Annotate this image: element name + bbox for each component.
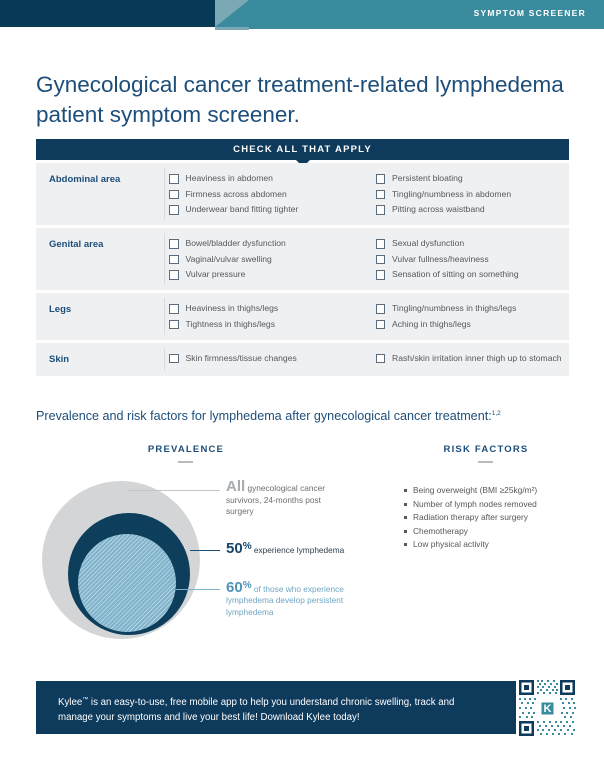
- checkbox-label: Heaviness in abdomen: [186, 173, 273, 184]
- header-navy-block: [0, 0, 215, 27]
- label-60-unit: %: [243, 580, 252, 591]
- checkbox-item[interactable]: Heaviness in abdomen: [169, 173, 367, 184]
- label-60-percent: 60% of those who experience lymphedema d…: [226, 580, 346, 618]
- checkbox-column-right: Persistent bloating Tingling/numbness in…: [367, 173, 570, 215]
- section-subtitle: Prevalence and risk factors for lymphede…: [36, 409, 581, 423]
- risk-factors-heading: RISK FACTORS: [396, 444, 576, 455]
- checkbox-label: Heaviness in thighs/legs: [186, 303, 279, 314]
- checkbox-icon[interactable]: [169, 239, 179, 249]
- row-divider: [164, 233, 165, 285]
- checkbox-label: Rash/skin irritation inner thigh up to s…: [392, 353, 562, 364]
- label-all-value: All: [226, 478, 245, 495]
- checkbox-item[interactable]: Sensation of sitting on something: [376, 269, 570, 280]
- row-label-legs: Legs: [36, 293, 164, 340]
- risk-factor-label: Radiation therapy after surgery: [413, 511, 528, 525]
- bullet-icon: [404, 516, 407, 519]
- label-50-unit: %: [243, 541, 252, 552]
- checkbox-item[interactable]: Underwear band fitting tighter: [169, 204, 367, 215]
- risk-factors-list: Being overweight (BMI ≥25kg/m²) Number o…: [404, 484, 594, 552]
- qr-logo-letter: K: [544, 703, 552, 715]
- label-50-percent: 50% experience lymphedema: [226, 541, 346, 556]
- checkbox-label: Persistent bloating: [392, 173, 463, 184]
- label-all-survivors: All gynecological cancer survivors, 24-m…: [226, 481, 346, 518]
- checkbox-icon[interactable]: [169, 174, 179, 184]
- checkbox-icon[interactable]: [376, 255, 386, 265]
- checkbox-label: Bowel/bladder dysfunction: [186, 238, 286, 249]
- checkbox-label: Aching in thighs/legs: [392, 319, 471, 330]
- checkbox-column-right: Rash/skin irritation inner thigh up to s…: [367, 353, 570, 366]
- leader-line-50: [190, 550, 220, 551]
- checkbox-item[interactable]: Vulvar pressure: [169, 269, 367, 280]
- prevalence-heading-divider: [178, 461, 193, 463]
- label-60-value: 60: [226, 579, 243, 596]
- checkbox-label: Tingling/numbness in abdomen: [392, 189, 511, 200]
- checkbox-icon[interactable]: [376, 320, 386, 330]
- prevalence-heading: PREVALENCE: [96, 444, 276, 455]
- row-divider: [164, 168, 165, 220]
- checkbox-item[interactable]: Tingling/numbness in abdomen: [376, 189, 570, 200]
- checkbox-column-left: Skin firmness/tissue changes: [164, 353, 367, 366]
- checkbox-label: Tightness in thighs/legs: [186, 319, 276, 330]
- row-label-abdominal: Abdominal area: [36, 163, 164, 225]
- checkbox-item[interactable]: Skin firmness/tissue changes: [169, 353, 367, 364]
- checkbox-column-right: Sexual dysfunction Vulvar fullness/heavi…: [367, 238, 570, 280]
- checkbox-icon[interactable]: [376, 354, 386, 364]
- bullet-icon: [404, 543, 407, 546]
- footer-text: Kylee™ is an easy-to-use, free mobile ap…: [58, 693, 488, 725]
- checkbox-column-left: Bowel/bladder dysfunction Vaginal/vulvar…: [164, 238, 367, 280]
- checkbox-item[interactable]: Tingling/numbness in thighs/legs: [376, 303, 570, 314]
- header-label: SYMPTOM SCREENER: [474, 0, 586, 27]
- checkbox-item[interactable]: Bowel/bladder dysfunction: [169, 238, 367, 249]
- row-divider: [164, 348, 165, 371]
- label-50-value: 50: [226, 540, 243, 557]
- header-underbar: [249, 27, 604, 29]
- checkbox-icon[interactable]: [376, 174, 386, 184]
- checkbox-column-left: Heaviness in thighs/legs Tightness in th…: [164, 303, 367, 330]
- checkbox-icon[interactable]: [376, 239, 386, 249]
- list-item: Number of lymph nodes removed: [404, 498, 594, 512]
- checkbox-item[interactable]: Firmness across abdomen: [169, 189, 367, 200]
- risk-factor-label: Chemotherapy: [413, 525, 468, 539]
- risk-factor-label: Number of lymph nodes removed: [413, 498, 537, 512]
- checkbox-label: Sexual dysfunction: [392, 238, 464, 249]
- footer-banner: Kylee™ is an easy-to-use, free mobile ap…: [36, 681, 569, 734]
- table-row: Genital area Bowel/bladder dysfunction V…: [36, 228, 569, 290]
- table-row: Skin Skin firmness/tissue changes Rash/s…: [36, 343, 569, 376]
- checkbox-label: Pitting across waistband: [392, 204, 485, 215]
- checkbox-icon[interactable]: [169, 255, 179, 265]
- list-item: Low physical activity: [404, 538, 594, 552]
- bullet-icon: [404, 530, 407, 533]
- checkbox-label: Skin firmness/tissue changes: [186, 353, 297, 364]
- checkbox-item[interactable]: Pitting across waistband: [376, 204, 570, 215]
- risk-factors-heading-divider: [478, 461, 493, 463]
- checkbox-label: Underwear band fitting tighter: [186, 204, 299, 215]
- table-row: Legs Heaviness in thighs/legs Tightness …: [36, 293, 569, 340]
- row-label-genital: Genital area: [36, 228, 164, 290]
- checkbox-icon[interactable]: [169, 304, 179, 314]
- leader-line-60: [176, 589, 220, 590]
- checkbox-item[interactable]: Sexual dysfunction: [376, 238, 570, 249]
- risk-factor-label: Low physical activity: [413, 538, 489, 552]
- checklist-header: CHECK ALL THAT APPLY: [36, 139, 569, 160]
- checklist-header-label: CHECK ALL THAT APPLY: [233, 144, 372, 155]
- checkbox-label: Vulvar pressure: [186, 269, 246, 280]
- checkbox-item[interactable]: Tightness in thighs/legs: [169, 319, 367, 330]
- list-item: Radiation therapy after surgery: [404, 511, 594, 525]
- circle-60-percent: [78, 534, 176, 632]
- header-tab-accent: [215, 27, 249, 30]
- checkbox-item[interactable]: Heaviness in thighs/legs: [169, 303, 367, 314]
- footer-message: is an easy-to-use, free mobile app to he…: [58, 697, 454, 723]
- checkbox-label: Tingling/numbness in thighs/legs: [392, 303, 516, 314]
- symptom-checklist-table: CHECK ALL THAT APPLY Abdominal area Heav…: [36, 139, 569, 376]
- checkbox-label: Sensation of sitting on something: [392, 269, 519, 280]
- infographic-section: PREVALENCE RISK FACTORS All gynecologica…: [0, 440, 604, 670]
- checkbox-icon[interactable]: [376, 304, 386, 314]
- checkbox-column-left: Heaviness in abdomen Firmness across abd…: [164, 173, 367, 215]
- page-header: SYMPTOM SCREENER: [0, 0, 604, 27]
- row-divider: [164, 298, 165, 335]
- checkbox-icon[interactable]: [169, 320, 179, 330]
- row-label-skin: Skin: [36, 343, 164, 376]
- checkbox-item[interactable]: Vulvar fullness/heaviness: [376, 254, 570, 265]
- checkbox-icon[interactable]: [169, 190, 179, 200]
- checkbox-icon[interactable]: [376, 270, 386, 280]
- label-50-description: experience lymphedema: [254, 545, 344, 555]
- table-row: Abdominal area Heaviness in abdomen Firm…: [36, 163, 569, 225]
- checkbox-item[interactable]: Persistent bloating: [376, 173, 570, 184]
- bullet-icon: [404, 489, 407, 492]
- checkbox-column-right: Tingling/numbness in thighs/legs Aching …: [367, 303, 570, 330]
- checkbox-item[interactable]: Vaginal/vulvar swelling: [169, 254, 367, 265]
- checkbox-label: Firmness across abdomen: [186, 189, 287, 200]
- bullet-icon: [404, 503, 407, 506]
- checkbox-icon[interactable]: [169, 354, 179, 364]
- qr-code[interactable]: K: [516, 677, 578, 739]
- leader-line-all: [128, 490, 220, 491]
- list-item: Chemotherapy: [404, 525, 594, 539]
- checkbox-label: Vulvar fullness/heaviness: [392, 254, 489, 265]
- page-title: Gynecological cancer treatment-related l…: [36, 70, 566, 130]
- footer-brand: Kylee: [58, 697, 82, 708]
- checkbox-label: Vaginal/vulvar swelling: [186, 254, 272, 265]
- list-item: Being overweight (BMI ≥25kg/m²): [404, 484, 594, 498]
- checkbox-item[interactable]: Aching in thighs/legs: [376, 319, 570, 330]
- checkbox-icon[interactable]: [169, 270, 179, 280]
- checkbox-icon[interactable]: [376, 205, 386, 215]
- risk-factor-label: Being overweight (BMI ≥25kg/m²): [413, 484, 537, 498]
- checkbox-icon[interactable]: [169, 205, 179, 215]
- subtitle-text: Prevalence and risk factors for lymphede…: [36, 409, 492, 423]
- checkbox-item[interactable]: Rash/skin irritation inner thigh up to s…: [376, 353, 570, 364]
- checkbox-icon[interactable]: [376, 190, 386, 200]
- subtitle-superscript: 1,2: [492, 410, 501, 417]
